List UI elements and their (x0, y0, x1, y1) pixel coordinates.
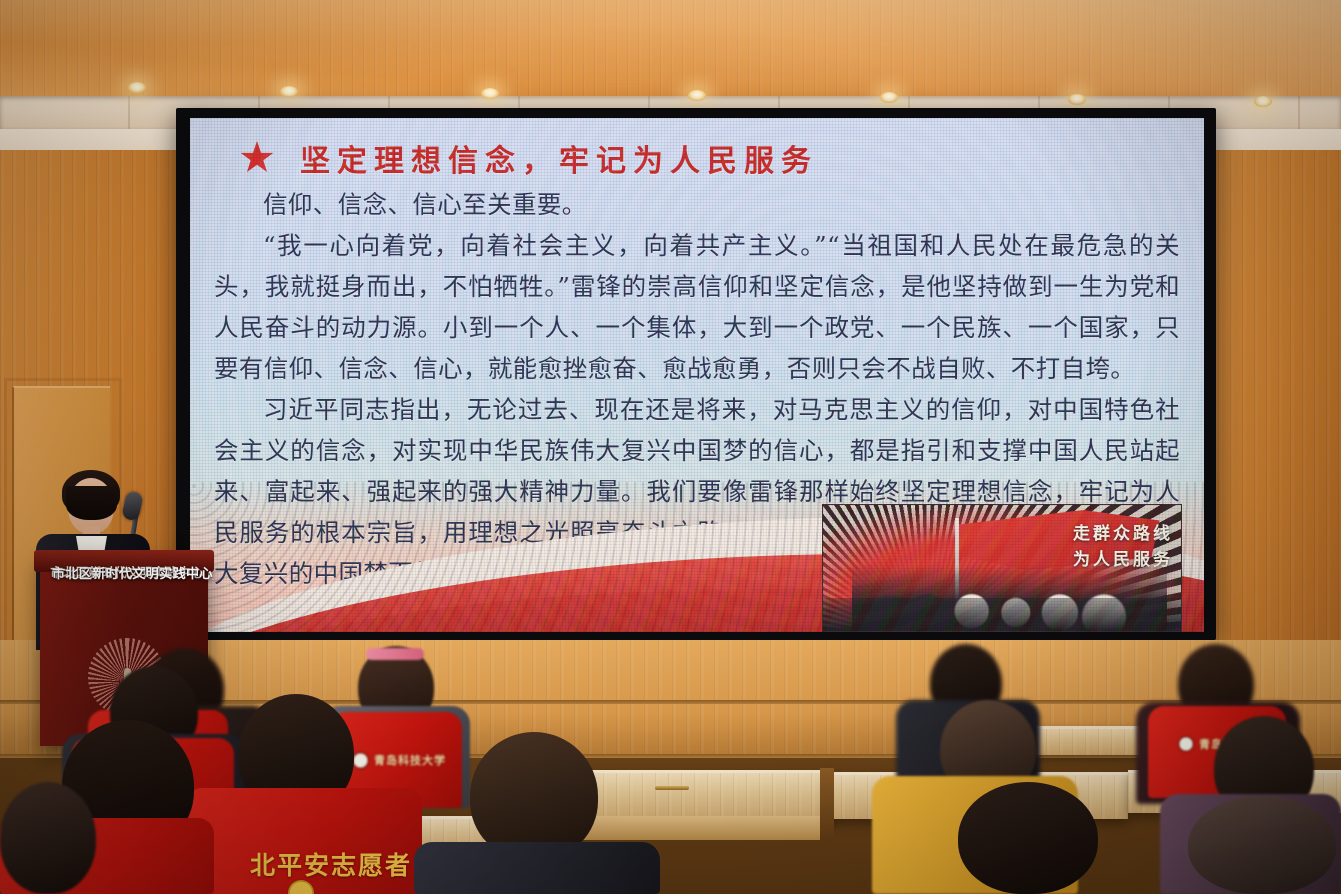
audience-head-front-4 (958, 782, 1098, 894)
ceiling-downlight-1 (128, 82, 146, 93)
audience-vest-logo-badge-mid-1 (352, 752, 369, 769)
led-screen: 坚定理想信念，牢记为人民服务 信仰、信念、信心至关重要。 “我一心向着党，向着社… (190, 118, 1204, 632)
audience-vest-slogan-front: 北平安志愿者 (250, 846, 412, 882)
audience-head-front-3 (470, 732, 598, 860)
venue-watermark: 市北区新时代文明实践中心 (52, 563, 213, 582)
ceiling-downlight-5 (880, 92, 898, 103)
desk-handle-center (655, 786, 689, 790)
ceiling-downlight-3 (481, 88, 499, 99)
right-wall (1206, 150, 1341, 670)
audience-head-front-5 (1188, 796, 1336, 894)
audience-head-front-6 (0, 782, 96, 894)
lecture-hall-photo: 坚定理想信念，牢记为人民服务 信仰、信念、信心至关重要。 “我一心向着党，向着社… (0, 0, 1341, 894)
audience-vest-logo-badge-right (1178, 736, 1194, 752)
ceiling-downlight-7 (1254, 96, 1272, 107)
audience-vest-logo-text-mid-1: 青岛科技大学 (374, 752, 446, 768)
speaker-hair-back (66, 486, 117, 520)
ceiling-downlight-2 (280, 86, 298, 97)
audience-headband-pink (366, 648, 424, 660)
ceiling-downlight-6 (1068, 94, 1086, 105)
led-moire-overlay-2 (190, 118, 1204, 632)
ceiling-downlight-4 (688, 90, 706, 101)
audience-body-front-3 (414, 842, 660, 894)
desk-right-side-panel (820, 768, 834, 842)
